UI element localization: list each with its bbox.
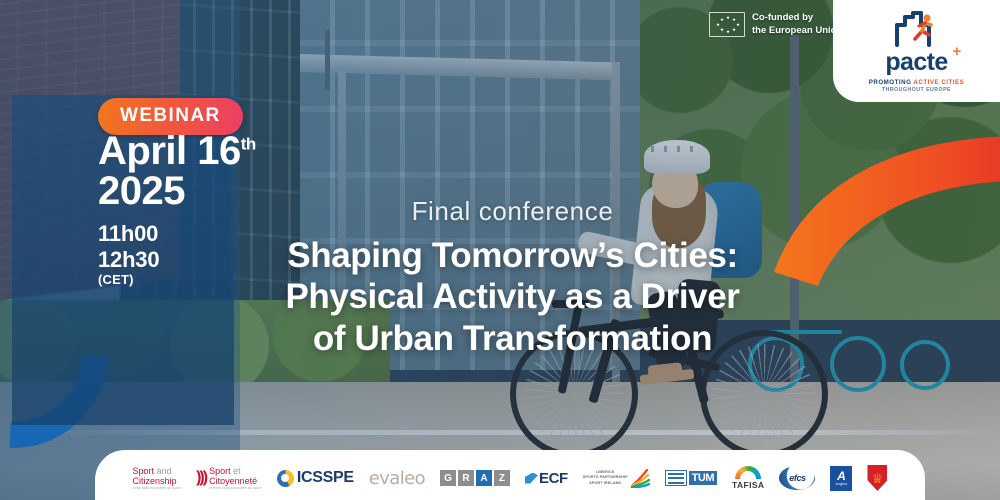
sc-word-citizenship: Citizenship [133,476,182,486]
pacte-city-runner-icon [891,9,943,49]
tagline-accent: ACTIVE CITIES [913,79,964,86]
graz-logo: G R A Z [440,470,510,486]
efcs-logo: efcs [779,466,815,490]
event-date-text: April 16 [98,129,241,173]
title-line-1: Shaping Tomorrow’s Cities: [230,235,795,276]
tafisa-label: TAFISA [732,480,764,490]
graz-letter-a: A [476,470,492,486]
angers-label: Angers [835,482,847,486]
graz-letter-r: R [458,470,474,486]
sec-word-citoyennete: Citoyenneté [209,476,262,486]
sports-partnership-swoosh-icon [630,469,650,488]
pacte-logo-card: pacte + PROMOTING ACTIVE CITIES THROUGHO… [833,0,1000,102]
conference-title: Shaping Tomorrow’s Cities: Physical Acti… [230,235,795,359]
pacte-word-text: pacte [885,48,947,76]
icsspe-mark-icon [277,470,294,487]
title-line-2: Physical Activity as a Driver [230,276,795,317]
sec-word-sport: Sport [209,466,231,476]
ecf-mark-icon [525,473,538,484]
sport-and-citizenship-logo: Sport and Citizenship think tank europee… [133,466,182,490]
sc-wave-icon: ))) [196,469,206,487]
icsspe-label: ICSSPE [297,469,354,487]
tafisa-arc-icon [735,466,761,479]
graz-letter-z: Z [494,470,510,486]
sport-et-citoyennete-logo: ))) Sport et Citoyenneté le think tank e… [196,466,262,490]
graz-letter-g: G [440,470,456,486]
orange-arc-decoration [770,120,1000,290]
efcs-label: efcs [789,473,805,483]
angers-mark: A [837,470,846,482]
eu-badge-line1: Co-funded by [752,12,842,25]
sp-line3: SPORT IRELAND [583,481,628,486]
event-date-ordinal: th [241,135,256,154]
tagline-prefix: PROMOTING [869,79,914,86]
tum-crest-icon [665,470,687,486]
conference-kicker: Final conference [240,196,785,227]
eu-badge-line2: the European Union [752,25,842,38]
event-year: 2025 [98,171,256,212]
tafisa-logo: TAFISA [732,466,764,490]
city-crest-logo: ♕ [867,465,887,491]
ecf-logo: ECF [525,470,568,487]
sports-partnership-logo: LIMERICK SPORTS PARTNERSHIP SPORT IRELAN… [583,469,650,488]
ecf-label: ECF [539,470,568,487]
tum-label: TUM [689,471,717,485]
title-line-3: of Urban Transformation [230,318,795,359]
sec-word-et: et [233,466,241,476]
tum-logo: TUM [665,470,717,486]
eu-cofunded-badge: ★ ★ ★ ★ ★ ★ ★ ★ Co-funded by the Europea… [709,12,842,37]
sport-et-citoyennete-text: Sport et Citoyenneté le think tank europ… [209,466,262,490]
pacte-wordmark: pacte + [885,50,947,75]
sc-word-and: and [157,466,172,476]
event-date-line: April 16th [98,132,256,171]
poster-canvas: ★ ★ ★ ★ ★ ★ ★ ★ Co-funded by the Europea… [0,0,1000,500]
eu-badge-text: Co-funded by the European Union [752,12,842,37]
pacte-tagline-line1: PROMOTING ACTIVE CITIES [869,79,965,86]
sc-word-sport: Sport [133,466,155,476]
icsspe-logo: ICSSPE [277,469,354,487]
sp-line2: SPORTS PARTNERSHIP [583,475,628,480]
partner-logo-bar: Sport and Citizenship think tank europee… [95,450,925,500]
eu-flag-icon: ★ ★ ★ ★ ★ ★ ★ ★ [709,12,745,37]
sc-subtitle: think tank europeen du sport [133,486,182,490]
evaleo-logo: evaleo [369,468,425,489]
angers-logo: A Angers [830,466,852,491]
pacte-tagline-line2: THROUGHOUT EUROPE [882,87,951,93]
pacte-plus-mark: + [952,44,960,59]
sport-and-citizenship-text: Sport and Citizenship think tank europee… [133,466,182,490]
sports-partnership-text: LIMERICK SPORTS PARTNERSHIP SPORT IRELAN… [583,470,628,486]
sec-subtitle: le think tank europeen du sport [209,486,262,490]
